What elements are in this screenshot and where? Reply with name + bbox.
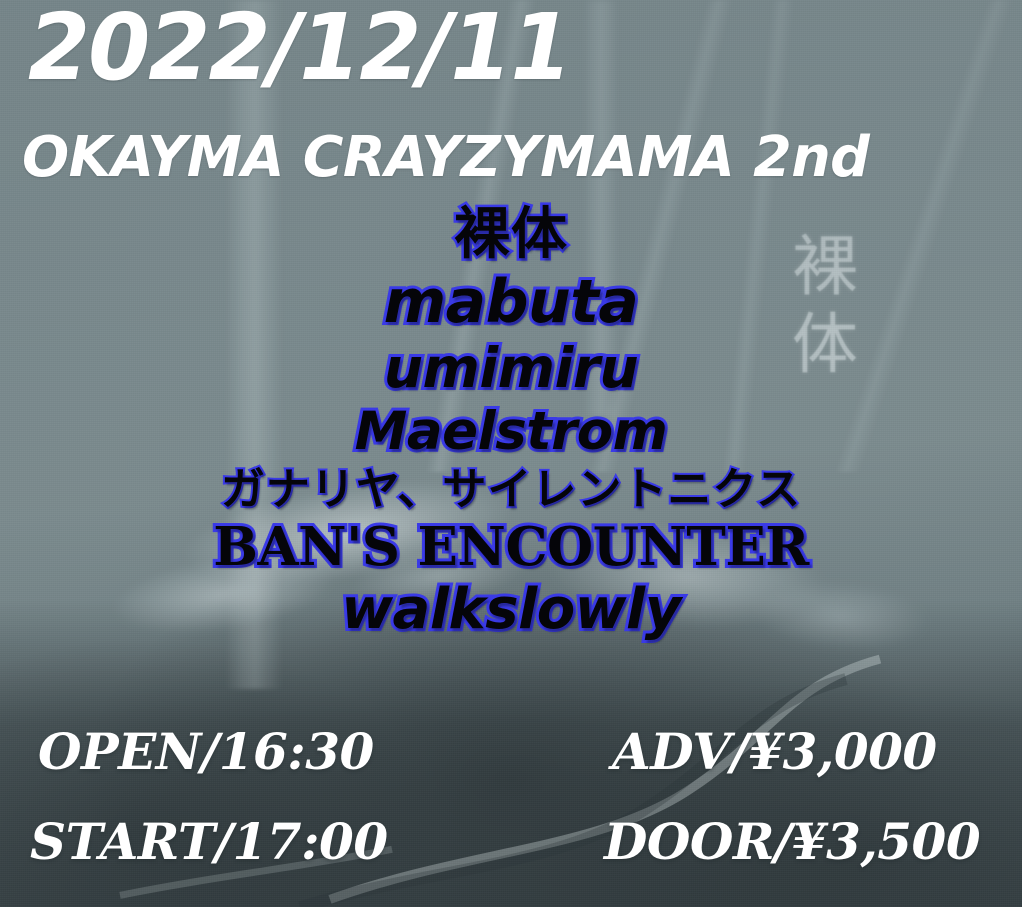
start-time: START/17:00 — [30, 812, 388, 871]
lineup-list: 裸体 mabuta umimiru Maelstrom ガナリヤ、サイレントニク… — [0, 204, 1022, 642]
lineup-item: 裸体 — [0, 204, 1022, 267]
lineup-item: ガナリヤ、サイレントニクス — [0, 465, 1022, 514]
door-price: DOOR/¥3,500 — [604, 812, 980, 871]
lineup-item: umimiru — [0, 338, 1022, 400]
lineup-item: Maelstrom — [0, 402, 1022, 461]
lineup-item: walkslowly — [0, 579, 1022, 642]
event-flyer: 裸体 2022/12/11 OKAYMA CRAYZYMAMA 2nd 裸体 m… — [0, 0, 1022, 907]
lineup-item: BAN'S ENCOUNTER — [0, 518, 1022, 577]
open-time: OPEN/16:30 — [38, 722, 374, 781]
event-title: OKAYMA CRAYZYMAMA 2nd — [22, 128, 869, 188]
lineup-item: mabuta — [0, 269, 1022, 336]
event-date: 2022/12/11 — [28, 0, 571, 97]
advance-price: ADV/¥3,000 — [612, 722, 937, 781]
